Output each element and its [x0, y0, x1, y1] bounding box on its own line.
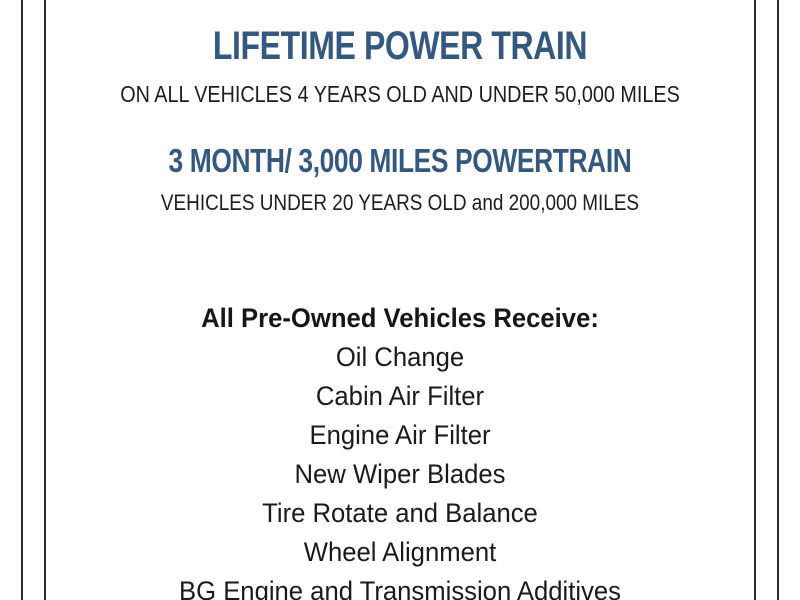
service-list-item: New Wiper Blades [64, 455, 737, 494]
service-list-item: Cabin Air Filter [64, 377, 737, 416]
service-list-item: Wheel Alignment [64, 533, 737, 572]
left-outer-rule [21, 0, 23, 600]
warranty-subline-text: ON ALL VEHICLES 4 YEARS OLD AND UNDER 50… [96, 83, 705, 106]
service-list-item: BG Engine and Transmission Additives [64, 572, 737, 600]
services-list-title: All Pre-Owned Vehicles Receive: [64, 299, 737, 338]
warranty-headline-3-month-powertrain: 3 MONTH/ 3,000 MILES POWERTRAIN [46, 144, 754, 177]
warranty-subline-text: VEHICLES UNDER 20 YEARS OLD and 200,000 … [96, 192, 705, 214]
warranty-poster: LIFETIME POWER TRAIN ON ALL VEHICLES 4 Y… [0, 0, 800, 600]
service-list-item: Oil Change [64, 338, 737, 377]
warranty-subline-3-month-powertrain: VEHICLES UNDER 20 YEARS OLD and 200,000 … [46, 192, 754, 214]
service-list-item: Tire Rotate and Balance [64, 494, 737, 533]
right-inner-rule [754, 0, 756, 600]
warranty-headline-text: LIFETIME POWER TRAIN [117, 26, 683, 66]
warranty-subline-lifetime-power-train: ON ALL VEHICLES 4 YEARS OLD AND UNDER 50… [46, 83, 754, 106]
right-outer-rule [777, 0, 779, 600]
service-list-item: Engine Air Filter [64, 416, 737, 455]
warranty-headline-lifetime-power-train: LIFETIME POWER TRAIN [46, 26, 754, 66]
warranty-headline-text: 3 MONTH/ 3,000 MILES POWERTRAIN [117, 144, 683, 177]
pre-owned-services-section: All Pre-Owned Vehicles Receive: Oil Chan… [46, 299, 754, 600]
